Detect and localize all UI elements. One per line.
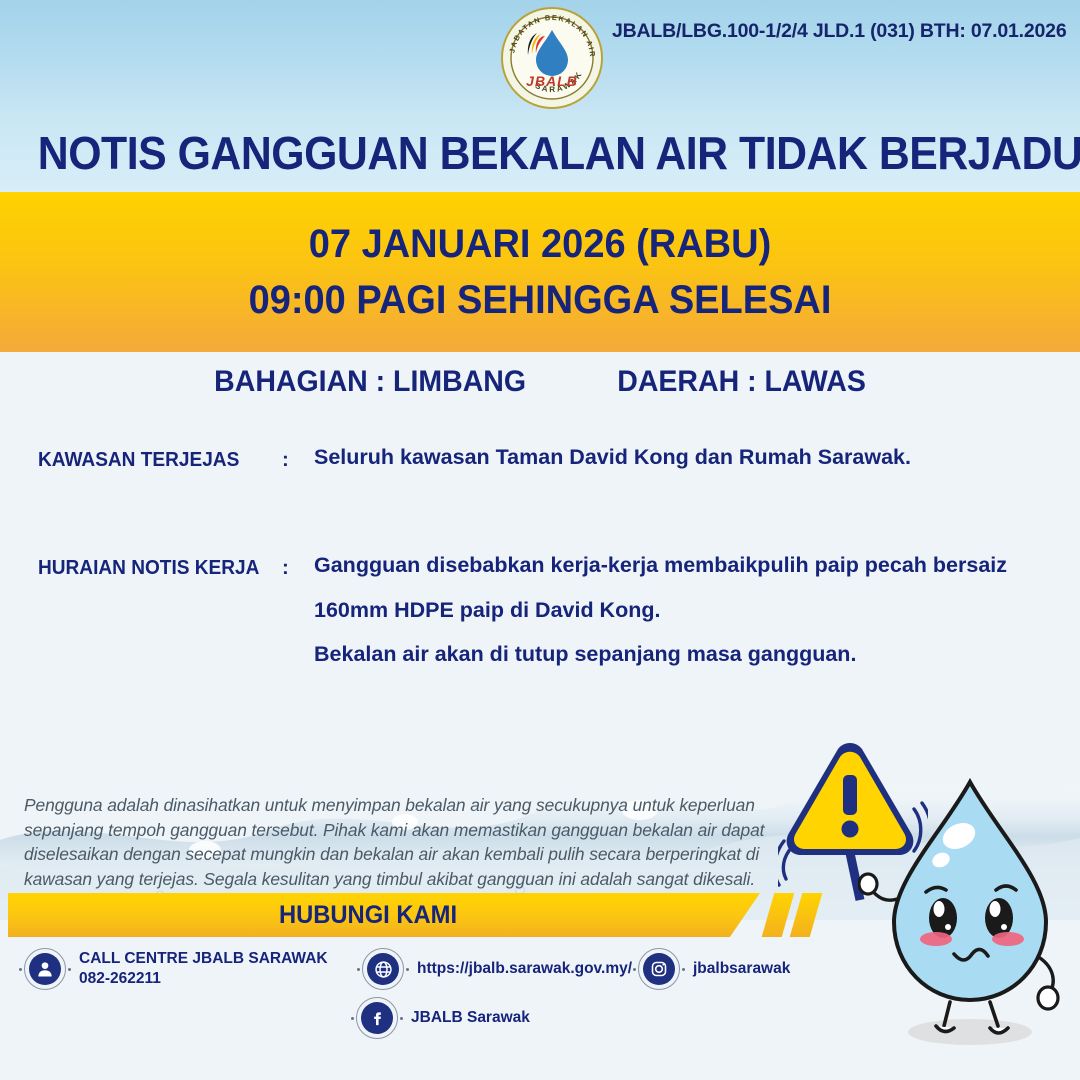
page-title: NOTIS GANGGUAN BEKALAN AIR TIDAK BERJADU… [38, 126, 1042, 180]
work-description-colon: : [282, 556, 289, 580]
work-description-label: HURAIAN NOTIS KERJA [38, 556, 261, 580]
division-label: BAHAGIAN : LIMBANG [214, 365, 526, 399]
notice-poster: JABATAN BEKALAN AIR LUAR BANDAR SARAWAK … [0, 0, 1080, 1080]
notice-date: 07 JANUARI 2026 (RABU) [27, 222, 1053, 267]
contact-call-centre[interactable]: CALL CENTRE JBALB SARAWAK 082-262211 [24, 948, 328, 990]
jbalb-sarawak-logo: JABATAN BEKALAN AIR LUAR BANDAR SARAWAK … [500, 6, 604, 110]
call-centre-phone: 082-262211 [79, 969, 328, 989]
instagram-handle: jbalbsarawak [693, 959, 790, 979]
affected-area-colon: : [282, 448, 289, 472]
header-bar: JABATAN BEKALAN AIR LUAR BANDAR SARAWAK … [0, 0, 1080, 116]
work-description-line-3: Bekalan air akan di tutup sepanjang masa… [314, 643, 1014, 666]
banner-slash-2 [790, 893, 823, 937]
person-icon [24, 948, 66, 990]
work-description-value: Gangguan disebabkan kerja-kerja membaikp… [314, 554, 1014, 688]
notice-time: 09:00 PAGI SEHINGGA SELESAI [27, 278, 1053, 323]
contact-website[interactable]: https://jbalb.sarawak.gov.my/ [362, 948, 632, 990]
contact-banner-title: HUBUNGI KAMI [26, 893, 710, 937]
facebook-handle: JBALB Sarawak [411, 1008, 530, 1028]
instagram-icon [638, 948, 680, 990]
globe-icon [362, 948, 404, 990]
work-description-line-1: Gangguan disebabkan kerja-kerja membaikp… [314, 554, 1004, 577]
reference-number: JBALB/LBG.100-1/2/4 JLD.1 (031) BTH: 07.… [612, 20, 1066, 43]
website-url: https://jbalb.sarawak.gov.my/ [417, 959, 632, 979]
affected-area-value: Seluruh kawasan Taman David Kong dan Rum… [314, 446, 1014, 469]
date-band [0, 192, 1080, 352]
advisory-text: Pengguna adalah dinasihatkan untuk menyi… [24, 793, 772, 892]
contact-banner: HUBUNGI KAMI [0, 893, 820, 937]
work-description-line-2: 160mm HDPE paip di David Kong. [314, 599, 1014, 622]
affected-area-label: KAWASAN TERJEJAS [38, 448, 261, 472]
facebook-icon [356, 997, 398, 1039]
district-label: DAERAH : LAWAS [617, 365, 866, 399]
svg-text:JBALB: JBALB [526, 73, 578, 89]
call-centre-text: CALL CENTRE JBALB SARAWAK 082-262211 [79, 949, 328, 990]
contact-instagram[interactable]: jbalbsarawak [638, 948, 790, 990]
location-row: BAHAGIAN : LIMBANG DAERAH : LAWAS [27, 365, 1053, 399]
water-droplet-mascot [858, 770, 1080, 1060]
banner-slash-1 [762, 893, 795, 937]
contact-facebook[interactable]: JBALB Sarawak [356, 997, 530, 1039]
call-centre-name: CALL CENTRE JBALB SARAWAK [79, 949, 328, 969]
